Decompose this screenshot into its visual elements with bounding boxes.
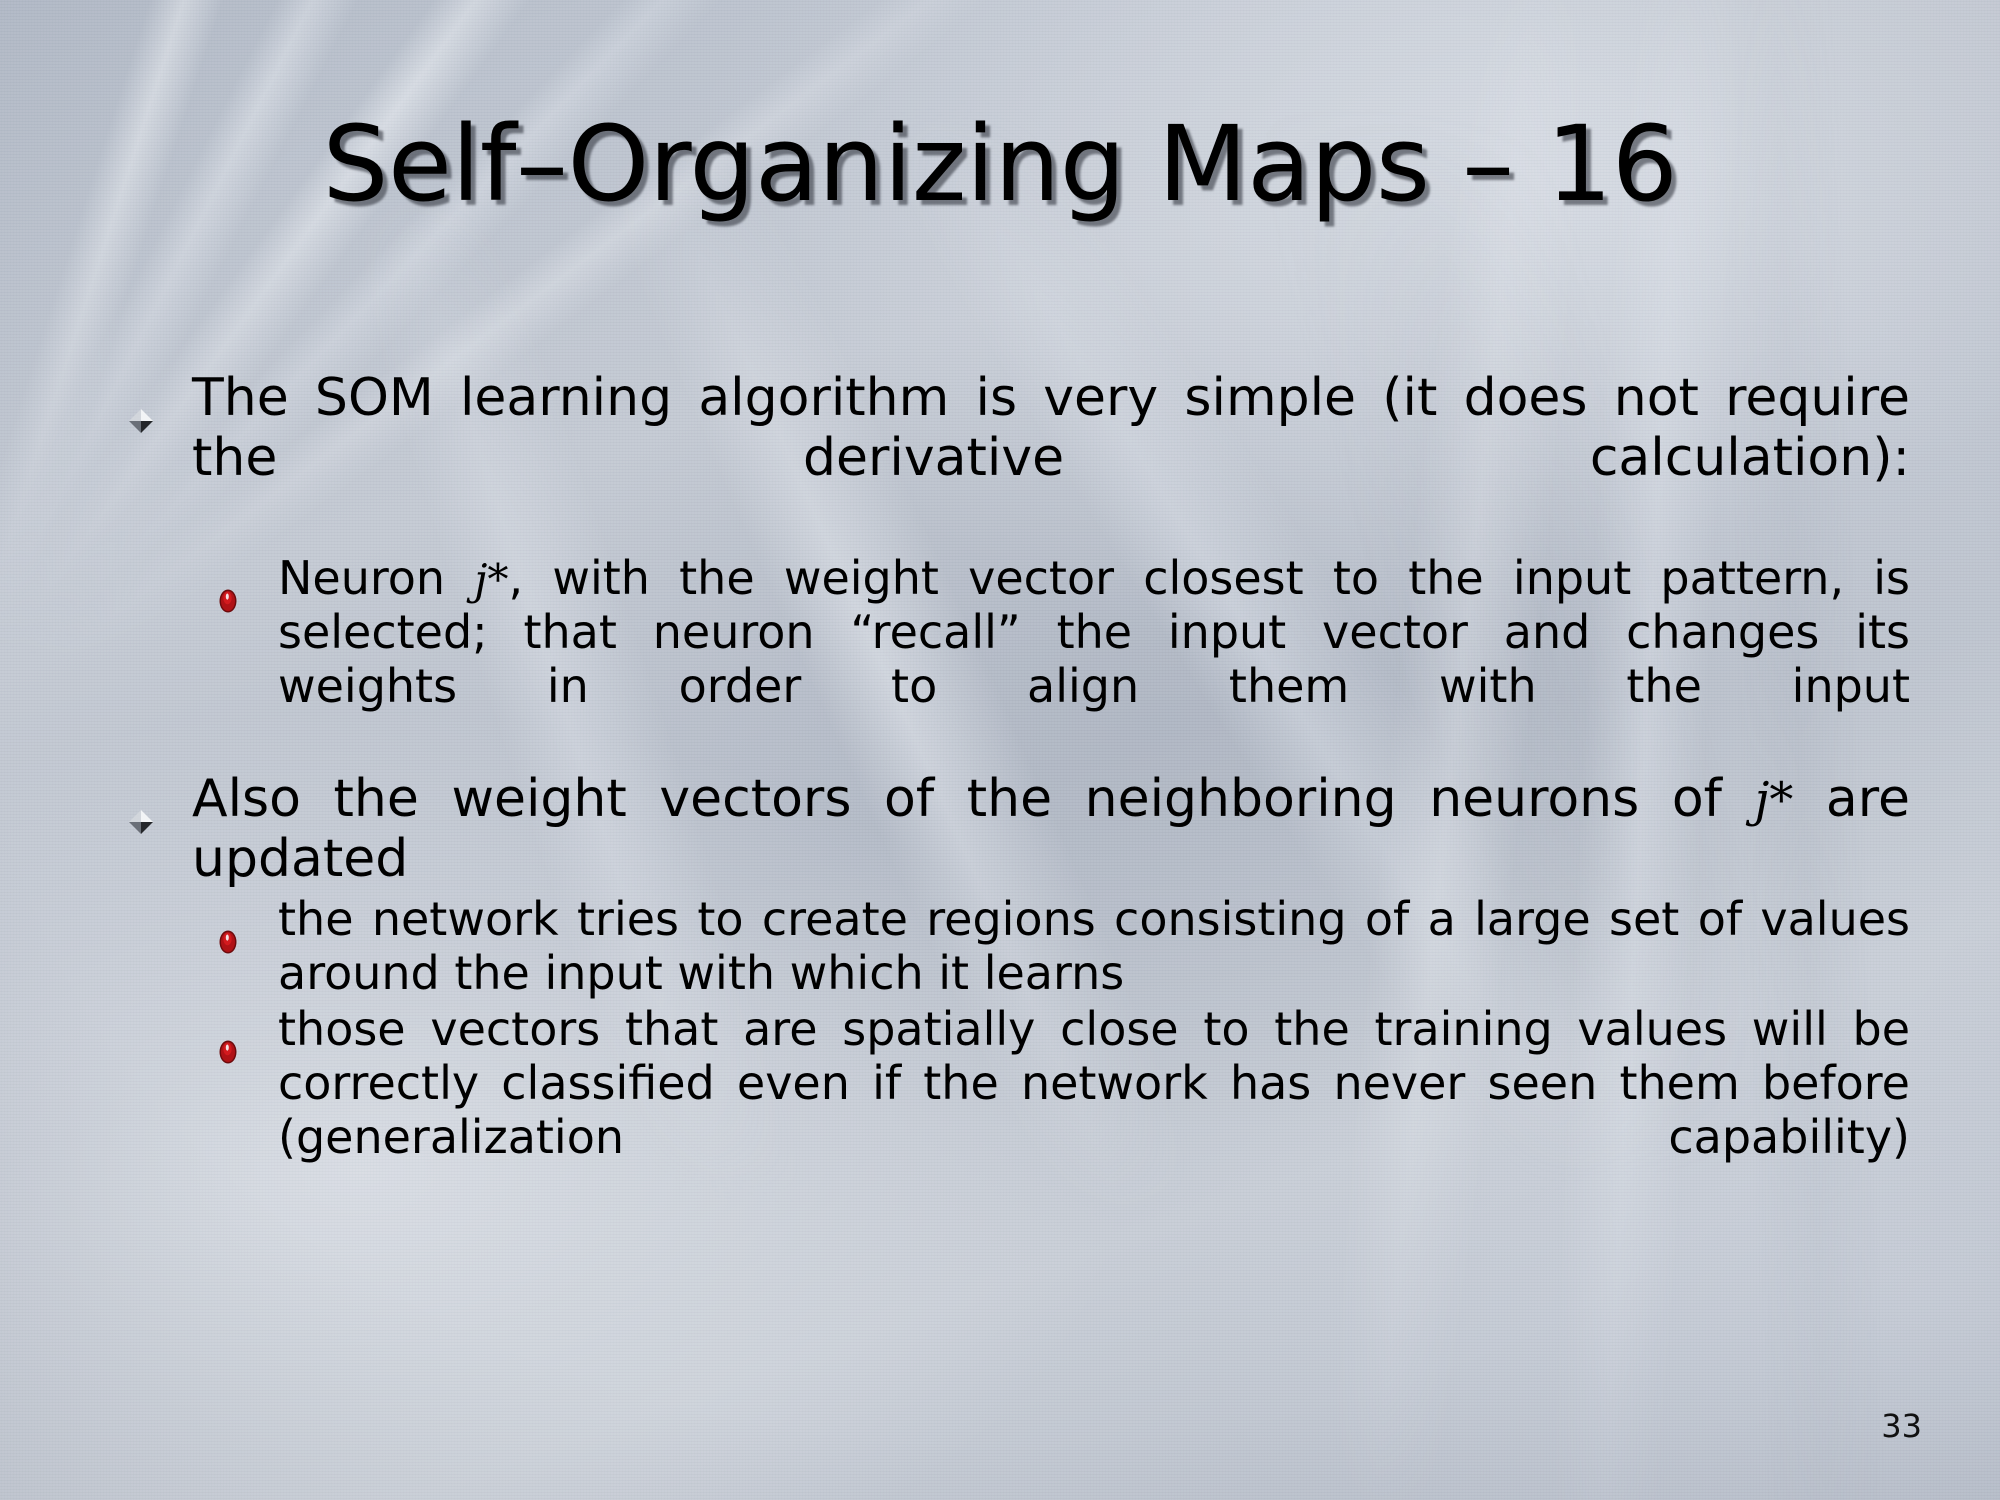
- bullet-item-level2: the network tries to create regions cons…: [120, 893, 1910, 1001]
- bullet-item-level1: The SOM learning algorithm is very simpl…: [120, 368, 1910, 548]
- bullet-text: The SOM learning algorithm is very simpl…: [192, 368, 1910, 548]
- sub-bullet-group: Neuron j*, with the weight vector closes…: [120, 552, 1910, 767]
- bullet-text-part: Also the weight vectors of the neighbori…: [192, 769, 1755, 829]
- sub-bullet-group: the network tries to create regions cons…: [120, 893, 1910, 1218]
- slide-body: The SOM learning algorithm is very simpl…: [120, 368, 1910, 1220]
- bullet-item-level1: Also the weight vectors of the neighbori…: [120, 769, 1910, 889]
- red-sphere-bullet-icon: [216, 913, 240, 939]
- presentation-slide: Self–Organizing Maps – 16 The SOM learni…: [0, 0, 2000, 1500]
- slide-title: Self–Organizing Maps – 16: [0, 112, 2000, 216]
- math-variable-j-star: j*: [1755, 773, 1794, 828]
- bullet-text: those vectors that are spatially close t…: [278, 1003, 1910, 1218]
- bullet-text: Also the weight vectors of the neighbori…: [192, 769, 1910, 889]
- bullet-text: Neuron j*, with the weight vector closes…: [278, 552, 1910, 767]
- red-sphere-bullet-icon: [216, 1023, 240, 1049]
- bullet-text: the network tries to create regions cons…: [278, 893, 1910, 1001]
- bullet-text-part: Neuron: [278, 551, 474, 605]
- bullet-item-level2: Neuron j*, with the weight vector closes…: [120, 552, 1910, 767]
- diamond-arrow-bullet-icon: [126, 389, 156, 419]
- bullet-text-part: , with the weight vector closest to the …: [278, 551, 1910, 713]
- math-variable-j-star: j*: [474, 555, 508, 604]
- diamond-arrow-bullet-icon: [126, 790, 156, 820]
- bullet-item-level2: those vectors that are spatially close t…: [120, 1003, 1910, 1218]
- red-sphere-bullet-icon: [216, 572, 240, 598]
- page-number: 33: [1881, 1410, 1922, 1442]
